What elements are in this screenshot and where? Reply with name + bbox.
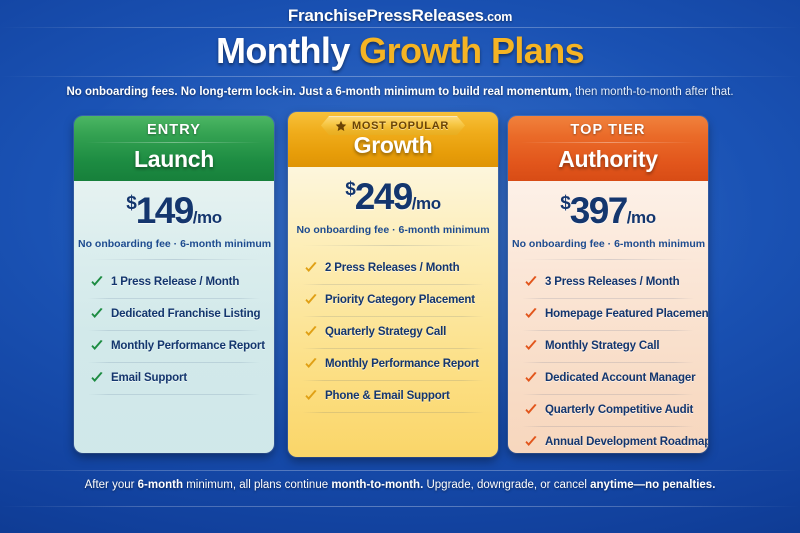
- subheadline-light: then month-to-month after that.: [572, 86, 734, 98]
- price-currency: $: [345, 179, 355, 200]
- page-title-part1: Monthly: [216, 30, 350, 71]
- feature-label: 3 Press Releases / Month: [545, 276, 679, 288]
- feature-label: Dedicated Account Manager: [545, 372, 695, 384]
- feature-label: Priority Category Placement: [325, 294, 475, 306]
- feature-item: Email Support: [74, 362, 274, 394]
- check-icon: [304, 325, 318, 339]
- price-currency: $: [560, 193, 570, 214]
- pricing-card-launch[interactable]: ENTRY Launch $149/mo No onboarding fee ·…: [74, 116, 274, 453]
- price-period: /mo: [193, 208, 222, 227]
- site-brand: FranchisePressReleases.com: [0, 6, 800, 26]
- footer-bold2: month-to-month.: [331, 479, 423, 491]
- ribbon-label: MOST POPULAR: [352, 120, 449, 132]
- check-icon: [304, 357, 318, 371]
- card-body-authority: $397/mo No onboarding fee · 6-month mini…: [508, 181, 708, 453]
- plan-note: No onboarding fee · 6-month minimum: [508, 229, 708, 250]
- feature-item: 3 Press Releases / Month: [508, 266, 708, 298]
- page-title: Monthly Growth Plans: [0, 30, 800, 72]
- feature-label: 2 Press Releases / Month: [325, 262, 459, 274]
- subheadline: No onboarding fees. No long-term lock-in…: [0, 86, 800, 98]
- page-title-part2: Growth Plans: [359, 30, 584, 71]
- check-icon: [524, 435, 538, 449]
- plan-note: No onboarding fee · 6-month minimum: [74, 229, 274, 250]
- price-amount: 397: [570, 190, 627, 231]
- feature-label: Quarterly Strategy Call: [325, 326, 446, 338]
- brand-tld: .com: [484, 10, 512, 24]
- plan-note: No onboarding fee · 6-month minimum: [288, 215, 498, 236]
- feature-item: Monthly Strategy Call: [508, 330, 708, 362]
- feature-label: Annual Development Roadmap: [545, 436, 708, 448]
- card-header-growth: MOST POPULAR Growth: [288, 112, 498, 167]
- feature-item: 1 Press Release / Month: [74, 266, 274, 298]
- footer-part2: minimum, all plans continue: [183, 479, 331, 491]
- feature-label: Dedicated Franchise Listing: [111, 308, 260, 320]
- check-icon: [524, 307, 538, 321]
- plan-name: Growth: [288, 132, 498, 159]
- most-popular-ribbon: MOST POPULAR: [288, 116, 498, 135]
- card-body-launch: $149/mo No onboarding fee · 6-month mini…: [74, 181, 274, 453]
- divider-band-footer-bottom: [0, 506, 800, 507]
- feature-item: Phone & Email Support: [288, 380, 498, 412]
- subheadline-bold: No onboarding fees. No long-term lock-in…: [66, 86, 571, 98]
- card-header-launch: ENTRY Launch: [74, 116, 274, 181]
- feature-label: Quarterly Competitive Audit: [545, 404, 693, 416]
- header-divider: [520, 142, 696, 143]
- feature-label: 1 Press Release / Month: [111, 276, 239, 288]
- price-amount: 149: [136, 190, 193, 231]
- check-icon: [304, 389, 318, 403]
- header-divider: [86, 142, 262, 143]
- divider-band-mid: [0, 76, 800, 77]
- price-amount: 249: [355, 176, 412, 217]
- feature-item: Monthly Performance Report: [74, 330, 274, 362]
- check-icon: [90, 339, 104, 353]
- check-icon: [524, 275, 538, 289]
- brand-name: FranchisePressReleases: [288, 6, 484, 25]
- feature-item: 2 Press Releases / Month: [288, 252, 498, 284]
- footer-note: After your 6-month minimum, all plans co…: [0, 479, 800, 491]
- feature-label: Monthly Strategy Call: [545, 340, 659, 352]
- feature-list-authority: 3 Press Releases / Month Homepage Featur…: [508, 260, 708, 453]
- plan-price: $249/mo: [288, 167, 498, 215]
- pricing-card-growth[interactable]: MOST POPULAR Growth $249/mo No onboardin…: [288, 112, 498, 457]
- feature-list-end-rule: [74, 394, 274, 395]
- feature-item: Annual Development Roadmap: [508, 426, 708, 453]
- check-icon: [90, 275, 104, 289]
- star-icon: [335, 120, 347, 132]
- pricing-card-authority[interactable]: TOP TIER Authority $397/mo No onboarding…: [508, 116, 708, 453]
- feature-list-launch: 1 Press Release / Month Dedicated Franch…: [74, 260, 274, 395]
- feature-label: Phone & Email Support: [325, 390, 450, 402]
- ribbon-body: MOST POPULAR: [321, 116, 465, 135]
- feature-item: Quarterly Strategy Call: [288, 316, 498, 348]
- feature-item: Dedicated Franchise Listing: [74, 298, 274, 330]
- divider-band-top: [0, 27, 800, 28]
- feature-label: Monthly Performance Report: [111, 340, 265, 352]
- feature-list-end-rule: [288, 412, 498, 413]
- feature-item: Priority Category Placement: [288, 284, 498, 316]
- feature-item: Quarterly Competitive Audit: [508, 394, 708, 426]
- plan-price: $149/mo: [74, 181, 274, 229]
- price-period: /mo: [412, 194, 441, 213]
- footer-bold1: 6-month: [138, 479, 183, 491]
- feature-label: Monthly Performance Report: [325, 358, 479, 370]
- feature-item: Monthly Performance Report: [288, 348, 498, 380]
- check-icon: [304, 293, 318, 307]
- check-icon: [304, 261, 318, 275]
- page-background: FranchisePressReleases.com Monthly Growt…: [0, 0, 800, 533]
- footer-part1: After your: [85, 479, 138, 491]
- check-icon: [524, 403, 538, 417]
- check-icon: [524, 371, 538, 385]
- card-body-growth: $249/mo No onboarding fee · 6-month mini…: [288, 167, 498, 457]
- card-header-authority: TOP TIER Authority: [508, 116, 708, 181]
- plan-name: Authority: [508, 146, 708, 173]
- plan-kicker: ENTRY: [74, 121, 274, 140]
- check-icon: [90, 307, 104, 321]
- check-icon: [90, 371, 104, 385]
- price-period: /mo: [627, 208, 656, 227]
- plan-price: $397/mo: [508, 181, 708, 229]
- plan-kicker: TOP TIER: [508, 121, 708, 140]
- feature-label: Email Support: [111, 372, 187, 384]
- footer-bold3: anytime—no penalties.: [590, 479, 715, 491]
- price-currency: $: [126, 193, 136, 214]
- feature-list-growth: 2 Press Releases / Month Priority Catego…: [288, 246, 498, 413]
- check-icon: [524, 339, 538, 353]
- footer-part3: Upgrade, downgrade, or cancel: [423, 479, 590, 491]
- feature-item: Dedicated Account Manager: [508, 362, 708, 394]
- feature-item: Homepage Featured Placement: [508, 298, 708, 330]
- feature-label: Homepage Featured Placement: [545, 308, 708, 320]
- plan-name: Launch: [74, 146, 274, 173]
- divider-band-footer-top: [0, 470, 800, 471]
